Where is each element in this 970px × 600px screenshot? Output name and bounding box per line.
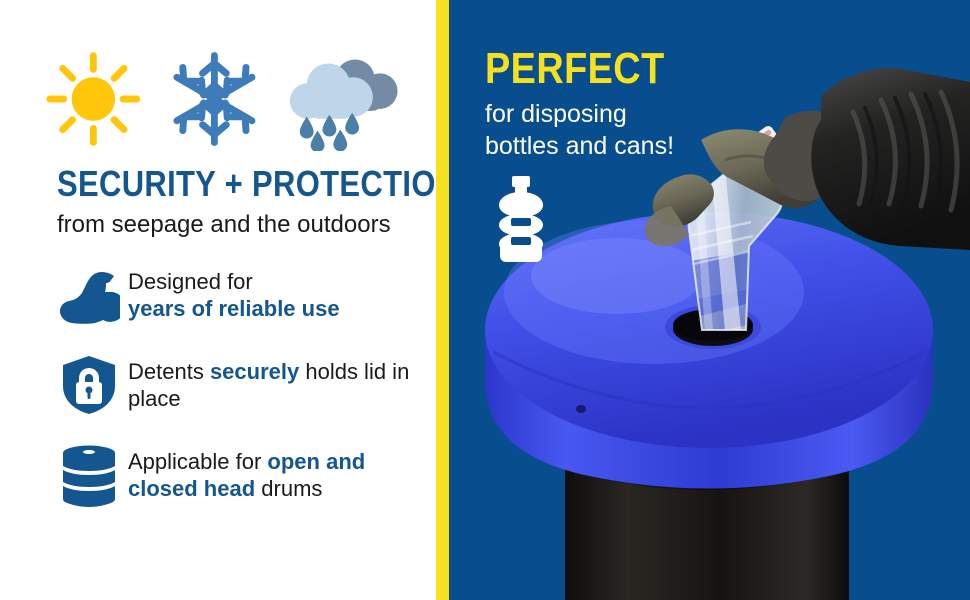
feature-seg-normal: Applicable for (128, 449, 267, 474)
feature-text-durability: Designed for years of reliable use (128, 262, 430, 322)
feature-seg-normal: Detents (128, 359, 210, 384)
rain-cloud-icon (284, 47, 403, 151)
feature-icon-slot (50, 262, 128, 326)
security-subheading: from seepage and the outdoors (57, 210, 427, 240)
feature-item-durability: Designed for years of reliable use (50, 262, 430, 326)
perfect-subheading: for disposing bottles and cans! (485, 98, 674, 162)
shield-lock-icon (60, 354, 118, 416)
feature-line-bold: years of reliable use (128, 296, 340, 321)
feature-list: Designed for years of reliable use (50, 262, 430, 534)
perfect-subheading-line1: for disposing (485, 98, 674, 130)
infographic-root: SECURITY + PROTECTION from seepage and t… (0, 0, 970, 600)
yellow-divider (436, 0, 449, 600)
feature-text-detents: Detents securely holds lid in place (128, 352, 430, 412)
water-bottle-icon (493, 176, 549, 262)
sun-icon (42, 47, 145, 151)
bottle-icon-wrap (493, 176, 549, 267)
feature-line-normal: Designed for (128, 269, 253, 294)
flexed-bicep-icon (58, 264, 120, 326)
snowflake-icon (167, 49, 262, 149)
perfect-subheading-line2: bottles and cans! (485, 130, 674, 162)
feature-icon-slot (50, 352, 128, 416)
left-panel: SECURITY + PROTECTION from seepage and t… (0, 0, 436, 600)
feature-item-detents: Detents securely holds lid in place (50, 352, 430, 416)
feature-item-drum-compat: Applicable for open and closed head drum… (50, 442, 430, 508)
feature-icon-slot (50, 442, 128, 508)
right-panel: PERFECT for disposing bottles and cans! (449, 0, 970, 600)
feature-seg-normal-2: drums (255, 476, 322, 501)
perfect-heading: PERFECT (485, 46, 665, 92)
feature-seg-bold: securely (210, 359, 299, 384)
drum-barrel-icon (59, 444, 119, 508)
security-heading: SECURITY + PROTECTION (57, 164, 349, 204)
feature-text-drum-compat: Applicable for open and closed head drum… (128, 442, 430, 502)
weather-icon-row (42, 44, 402, 154)
